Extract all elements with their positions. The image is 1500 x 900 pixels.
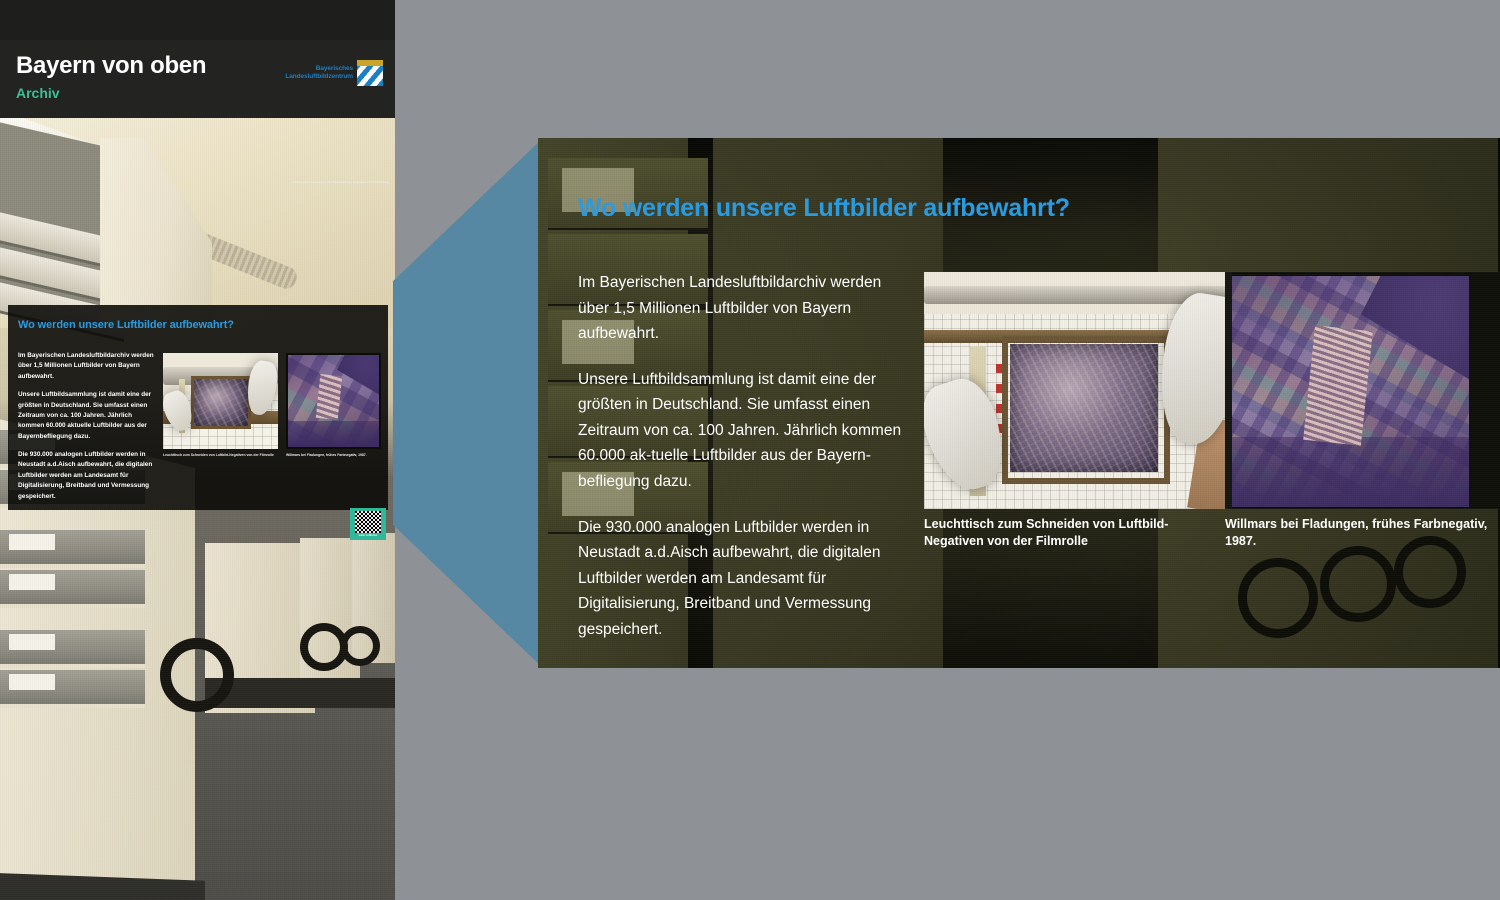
detail-paragraph-2: Unsere Luftbildsammlung ist damit eine d… (578, 367, 908, 495)
film-edge (1225, 272, 1232, 509)
caption-lightbox: Leuchttisch zum Schneiden von Luftbild-N… (924, 516, 1224, 550)
detail-paragraph-3: Die 930.000 analogen Luftbilder werden i… (578, 515, 908, 643)
poster-photo-lightbox (163, 353, 278, 449)
page-subtitle: Archiv (16, 85, 60, 101)
poster-photo-negative (286, 353, 381, 449)
poster-body-text: Im Bayerischen Landesluftbildarchiv werd… (18, 351, 158, 510)
logo-line-2: Landesluftbildzentrum (285, 73, 353, 81)
village-area (1303, 325, 1373, 445)
magnified-panel: Wo werden unsere Luftbilder aufbewahrt? … (538, 138, 1500, 668)
bavaria-shield-icon (357, 60, 383, 86)
poster-caption-2: Willmars bei Fladungen, frühes Farbnegat… (286, 453, 381, 458)
shelf-handwheel[interactable] (1238, 558, 1318, 638)
shelf-handwheel-1[interactable] (160, 638, 234, 712)
poster-paragraph-3: Die 930.000 analogen Luftbilder werden i… (18, 450, 158, 502)
zoom-callout-connector (393, 138, 543, 668)
detail-body-text: Im Bayerischen Landesluftbildarchiv werd… (578, 270, 908, 662)
detail-paragraph-1: Im Bayerischen Landesluftbildarchiv werd… (578, 270, 908, 347)
poster-content-block: Wo werden unsere Luftbilder aufbewahrt? … (8, 305, 388, 510)
page-title: Bayern von oben (16, 52, 206, 80)
poster-credit: Luftbildzentrum Landesamt für Digitalisi… (279, 180, 389, 185)
forest-area-top (1361, 276, 1469, 396)
rack-base-shadow (205, 678, 395, 708)
qr-code-badge[interactable]: mehr erfahren (350, 508, 386, 540)
photo-aerial-color-negative (1225, 272, 1500, 509)
poster-heading: Wo werden unsere Luftbilder aufbewahrt? (18, 319, 234, 331)
poster-caption-1: Leuchttisch zum Schneiden von Luftbild-N… (163, 453, 278, 458)
logo-text: Bayerisches Landesluftbildzentrum (285, 65, 353, 81)
poster-header: Bayern von oben Archiv Bayerisches Lande… (0, 40, 395, 118)
poster-paragraph-1: Im Bayerischen Landesluftbildarchiv werd… (18, 351, 158, 382)
poster-paragraph-2: Unsere Luftbildsammlung ist damit eine d… (18, 390, 158, 442)
detail-heading: Wo werden unsere Luftbilder aufbewahrt? (578, 194, 1070, 223)
qr-code-icon (355, 511, 381, 533)
caption-negative: Willmars bei Fladungen, frühes Farbnegat… (1225, 516, 1495, 550)
logo-line-1: Bayerisches (285, 65, 353, 73)
shelf-handwheel-3[interactable] (340, 626, 380, 666)
photo-lightbox-negative-cutting (924, 272, 1246, 509)
forest-area-bottom (1231, 437, 1469, 507)
shelf-handwheel[interactable] (1320, 546, 1396, 622)
exhibition-poster: Bayern von oben Archiv Bayerisches Lande… (0, 0, 395, 900)
qr-code-label: mehr erfahren (353, 534, 383, 537)
logo: Bayerisches Landesluftbildzentrum (285, 60, 383, 86)
